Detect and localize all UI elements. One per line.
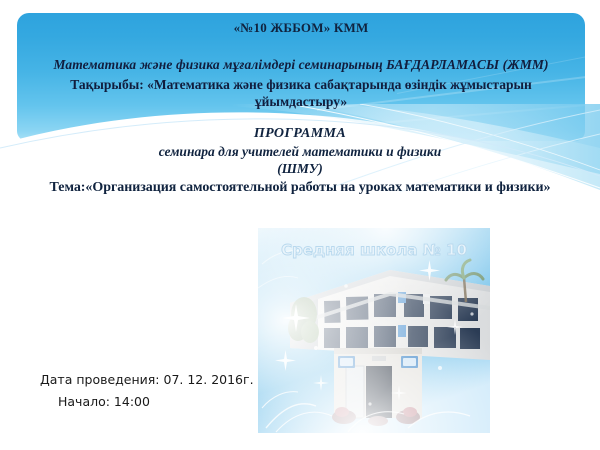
russian-abbreviation: (ШМУ) xyxy=(0,161,600,177)
russian-theme: Тема:«Организация самостоятельной работы… xyxy=(0,180,600,196)
photo-caption-text: Средняя школа № 10 xyxy=(281,241,467,259)
school-photo: Средняя школа № 10 xyxy=(258,228,490,433)
organization-title: «№10 ЖББОМ» КММ xyxy=(17,20,585,36)
russian-text-block: ПРОГРАММА семинара для учителей математи… xyxy=(0,126,600,196)
header-text-block: «№10 ЖББОМ» КММ Математика және физика м… xyxy=(17,13,585,111)
event-date: Дата проведения: 07. 12. 2016г. xyxy=(40,372,254,387)
kazakh-theme-title: Тақырыбы: «Математика және физика сабақт… xyxy=(17,76,585,111)
event-start-time: Начало: 14:00 xyxy=(58,394,254,409)
russian-program-heading: ПРОГРАММА xyxy=(0,126,600,142)
kazakh-program-title: Математика және физика мұғалімдері семин… xyxy=(17,57,585,73)
presentation-slide: «№10 ЖББОМ» КММ Математика және физика м… xyxy=(0,0,600,450)
russian-subtitle: семинара для учителей математики и физик… xyxy=(0,144,600,160)
event-info-block: Дата проведения: 07. 12. 2016г. Начало: … xyxy=(40,372,254,409)
school-photo-graphic: Средняя школа № 10 xyxy=(258,228,490,433)
